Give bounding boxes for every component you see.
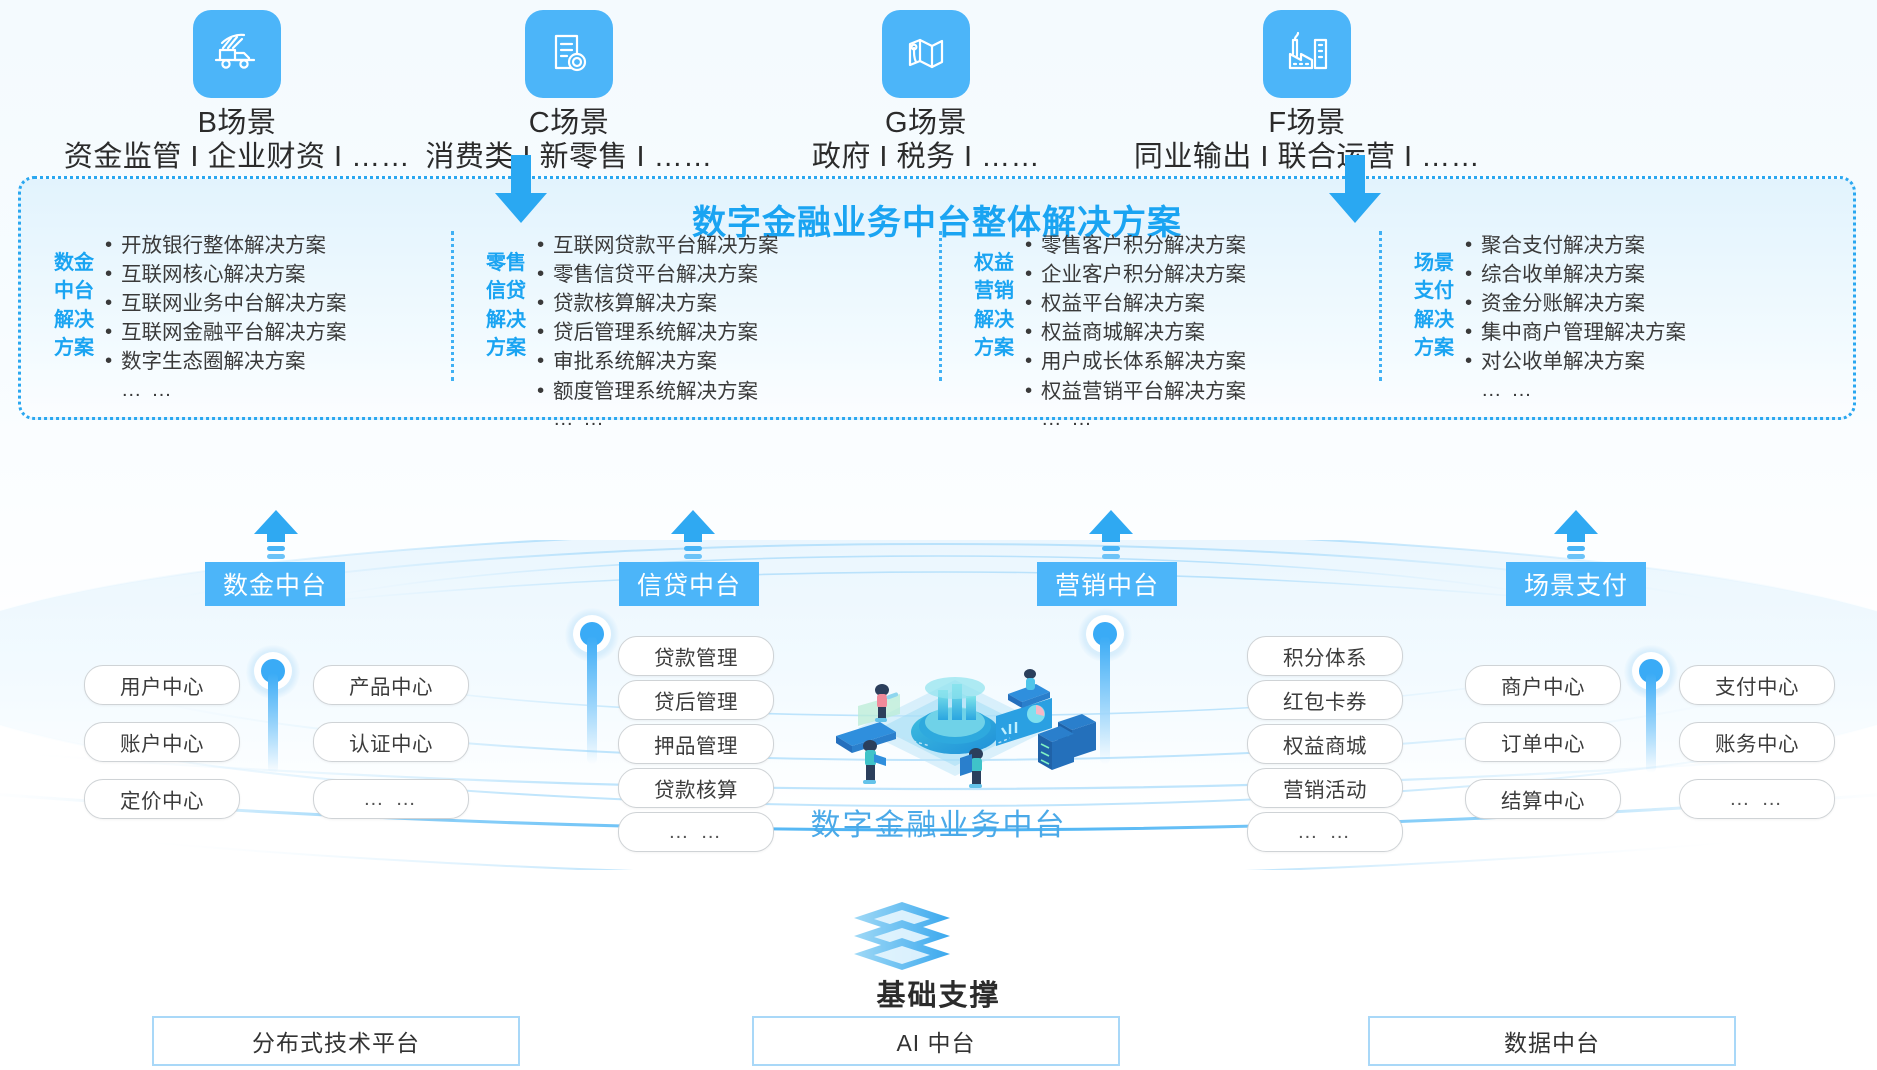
column-divider: [451, 231, 454, 381]
list-item: 聚合支付解决方案: [1465, 231, 1686, 260]
platform-tag-marketing[interactable]: 营销中台: [1037, 562, 1177, 606]
pin-marker-payment: [1624, 645, 1678, 775]
list-item: 集中商户管理解决方案: [1465, 318, 1686, 347]
list-item: 数字生态圈解决方案: [105, 347, 347, 376]
pin-marker-credit: [565, 608, 619, 768]
capability-pill[interactable]: 商户中心: [1465, 665, 1621, 705]
column-items: 聚合支付解决方案 综合收单解决方案 资金分账解决方案 集中商户管理解决方案 对公…: [1465, 231, 1686, 403]
list-item: 企业客户积分解决方案: [1025, 260, 1246, 289]
factory-icon: [1263, 10, 1351, 98]
column-divider: [1379, 231, 1382, 381]
column-more: … …: [105, 377, 347, 404]
list-item: 零售信贷平台解决方案: [537, 260, 779, 289]
pin-marker-digital-finance: [246, 645, 300, 775]
solutions-panel: 数字金融业务中台整体解决方案 数金 中台 解决 方案 开放银行整体解决方案 互联…: [18, 176, 1856, 420]
column-label: 零售 信贷 解决 方案: [481, 249, 531, 363]
list-item: 对公收单解决方案: [1465, 347, 1686, 376]
list-item: 互联网贷款平台解决方案: [537, 231, 779, 260]
down-arrow-f: [1327, 155, 1383, 227]
list-item: 开放银行整体解决方案: [105, 231, 347, 260]
list-item: 额度管理系统解决方案: [537, 377, 779, 406]
capability-pill[interactable]: 用户中心: [84, 665, 240, 705]
solution-column-digital-finance: 数金 中台 解决 方案 开放银行整体解决方案 互联网核心解决方案 互联网业务中台…: [49, 231, 347, 403]
list-item: 互联网核心解决方案: [105, 260, 347, 289]
capability-pill[interactable]: 支付中心: [1679, 665, 1835, 705]
column-items: 零售客户积分解决方案 企业客户积分解决方案 权益平台解决方案 权益商城解决方案 …: [1025, 231, 1246, 432]
foundation-box-distributed-tech[interactable]: 分布式技术平台: [152, 1016, 520, 1066]
solution-column-retail-credit: 零售 信贷 解决 方案 互联网贷款平台解决方案 零售信贷平台解决方案 贷款核算解…: [481, 231, 779, 432]
platform-tag-payment[interactable]: 场景支付: [1506, 562, 1646, 606]
architecture-diagram: B场景 资金监管 I 企业财资 I …… C场景 消费类 I 新零售 I …… …: [0, 0, 1877, 1070]
capability-pill[interactable]: 贷后管理: [618, 680, 774, 720]
capability-pill[interactable]: 贷款管理: [618, 636, 774, 676]
list-item: 审批系统解决方案: [537, 347, 779, 376]
scenario-subtitle: 同业输出 I 联合运营 I ……: [1097, 140, 1517, 174]
column-items: 开放银行整体解决方案 互联网核心解决方案 互联网业务中台解决方案 互联网金融平台…: [105, 231, 347, 403]
capability-pill[interactable]: 账户中心: [84, 722, 240, 762]
list-item: 贷款核算解决方案: [537, 289, 779, 318]
list-item: 资金分账解决方案: [1465, 289, 1686, 318]
scenario-title: F场景: [1097, 106, 1517, 140]
platform-tag-digital-finance[interactable]: 数金中台: [205, 562, 345, 606]
pin-marker-marketing: [1078, 608, 1132, 768]
platform-center-label: 数字金融业务中台: [0, 800, 1877, 844]
column-label: 数金 中台 解决 方案: [49, 249, 99, 363]
capability-pill[interactable]: 红包卡券: [1247, 680, 1403, 720]
solution-column-rights-marketing: 权益 营销 解决 方案 零售客户积分解决方案 企业客户积分解决方案 权益平台解决…: [969, 231, 1246, 432]
list-item: 权益营销平台解决方案: [1025, 377, 1246, 406]
list-item: 综合收单解决方案: [1465, 260, 1686, 289]
capability-pill[interactable]: 账务中心: [1679, 722, 1835, 762]
map-blueprint-icon: [882, 10, 970, 98]
foundation-box-ai[interactable]: AI 中台: [752, 1016, 1120, 1066]
column-more: … …: [537, 406, 779, 433]
document-check-icon: [525, 10, 613, 98]
truck-logistics-icon: [193, 10, 281, 98]
list-item: 互联网金融平台解决方案: [105, 318, 347, 347]
list-item: 贷后管理系统解决方案: [537, 318, 779, 347]
column-items: 互联网贷款平台解决方案 零售信贷平台解决方案 贷款核算解决方案 贷后管理系统解决…: [537, 231, 779, 432]
list-item: 权益商城解决方案: [1025, 318, 1246, 347]
scenario-f[interactable]: F场景 同业输出 I 联合运营 I ……: [1097, 10, 1517, 174]
platform-tag-credit[interactable]: 信贷中台: [619, 562, 759, 606]
list-item: 用户成长体系解决方案: [1025, 347, 1246, 376]
capability-pill[interactable]: 积分体系: [1247, 636, 1403, 676]
capability-pill[interactable]: 押品管理: [618, 724, 774, 764]
scenario-g[interactable]: G场景 政府 I 税务 I ……: [716, 10, 1136, 174]
column-more: … …: [1025, 406, 1246, 433]
list-item: 互联网业务中台解决方案: [105, 289, 347, 318]
column-label: 场景 支付 解决 方案: [1409, 249, 1459, 363]
solution-column-scene-payment: 场景 支付 解决 方案 聚合支付解决方案 综合收单解决方案 资金分账解决方案 集…: [1409, 231, 1686, 403]
foundation-title: 基础支撑: [0, 972, 1877, 1014]
layers-stack-icon: [842, 898, 962, 978]
capability-pill[interactable]: 认证中心: [313, 722, 469, 762]
list-item: 零售客户积分解决方案: [1025, 231, 1246, 260]
capability-pill[interactable]: 权益商城: [1247, 724, 1403, 764]
scenario-title: G场景: [716, 106, 1136, 140]
capability-pill[interactable]: 订单中心: [1465, 722, 1621, 762]
list-item: 权益平台解决方案: [1025, 289, 1246, 318]
column-divider: [939, 231, 942, 381]
column-label: 权益 营销 解决 方案: [969, 249, 1019, 363]
foundation-box-data[interactable]: 数据中台: [1368, 1016, 1736, 1066]
column-more: … …: [1465, 377, 1686, 404]
platform-illustration: [800, 650, 1110, 810]
capability-pill[interactable]: 产品中心: [313, 665, 469, 705]
down-arrow-c: [493, 155, 549, 227]
scenario-subtitle: 政府 I 税务 I ……: [716, 140, 1136, 174]
